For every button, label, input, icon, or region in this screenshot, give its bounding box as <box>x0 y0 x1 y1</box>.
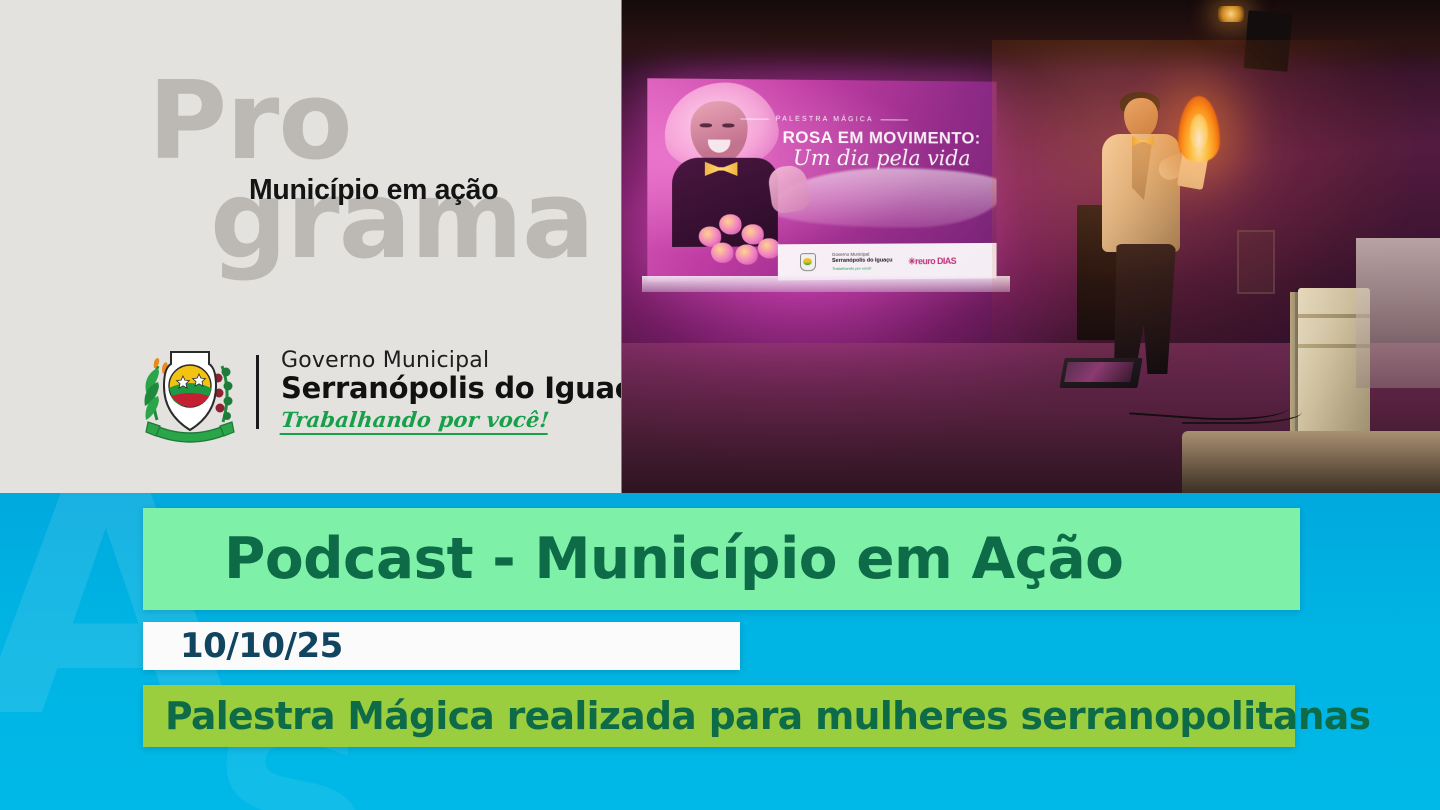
screen-magician-eye-left <box>700 123 712 127</box>
projection-screen: PALESTRA MÁGICA ROSA EM MOVIMENTO: Um di… <box>647 78 996 282</box>
brand-panel: Pro grama Município em ação <box>0 0 621 493</box>
screen-footer-artist-logo: ✳reuro DIAS <box>908 255 956 266</box>
program-title: Município em ação <box>249 174 498 207</box>
screen-magician-eye-right <box>722 123 734 127</box>
coat-of-arms-icon <box>138 338 242 446</box>
screen-footer-slogan: Trabalhando por você! <box>832 265 871 270</box>
hanging-speaker <box>1244 10 1293 72</box>
laptop-screen <box>1064 362 1134 382</box>
stage-cable-2 <box>1182 400 1302 424</box>
screen-footer-bar: Governo Municipal Serranópolis do Iguaçu… <box>778 243 997 281</box>
screen-magician-mouth <box>708 140 730 153</box>
bottom-section: A S Podcast - Município em Ação 10/10/25… <box>0 493 1440 810</box>
side-table <box>1356 238 1440 388</box>
episode-title: Podcast - Município em Ação <box>224 526 1123 592</box>
stage-edge <box>1182 431 1440 493</box>
logo-government-label: Governo Municipal <box>281 349 621 372</box>
logo-slogan: Trabalhando por você! <box>280 407 551 435</box>
logo-text-block: Governo Municipal Serranópolis do Iguaçu… <box>281 349 621 436</box>
episode-description-bar: Palestra Mágica realizada para mulheres … <box>143 685 1295 747</box>
episode-title-bar: Podcast - Município em Ação <box>143 508 1300 610</box>
magician-legs <box>1114 244 1176 374</box>
magician-head <box>1124 98 1158 138</box>
logo-city-name: Serranópolis do Iguaçu <box>281 373 621 403</box>
programa-watermark: Pro grama <box>148 72 608 271</box>
screen-subtitle-text: Um dia pela vida <box>778 146 985 170</box>
screen-magician-hand <box>767 164 811 215</box>
fire-flame-core <box>1190 114 1208 150</box>
projection-screen-base <box>642 276 1010 292</box>
logo-divider <box>256 355 259 429</box>
photo-ceiling <box>622 0 1440 72</box>
top-section: Pro grama Município em ação <box>0 0 1440 493</box>
stage-light-icon <box>1218 6 1244 22</box>
wall-frame <box>1237 230 1275 294</box>
event-photo: PALESTRA MÁGICA ROSA EM MOVIMENTO: Um di… <box>622 0 1440 493</box>
screen-footer-city-name: Serranópolis do Iguaçu <box>832 258 893 264</box>
episode-date-bar: 10/10/25 <box>143 622 740 670</box>
screen-footer-gov-label: Governo Municipal <box>832 252 869 257</box>
municipal-logo-lockup: Governo Municipal Serranópolis do Iguaçu… <box>138 338 621 446</box>
magician-performer <box>1062 92 1212 374</box>
screen-flowers <box>695 208 788 269</box>
podcast-cover-graphic: Pro grama Município em ação <box>0 0 1440 810</box>
episode-date: 10/10/25 <box>180 626 343 666</box>
screen-footer-coat-of-arms-icon <box>800 253 816 271</box>
episode-description: Palestra Mágica realizada para mulheres … <box>165 694 1370 738</box>
screen-footer-logo-text: Governo Municipal Serranópolis do Iguaçu… <box>832 252 893 272</box>
